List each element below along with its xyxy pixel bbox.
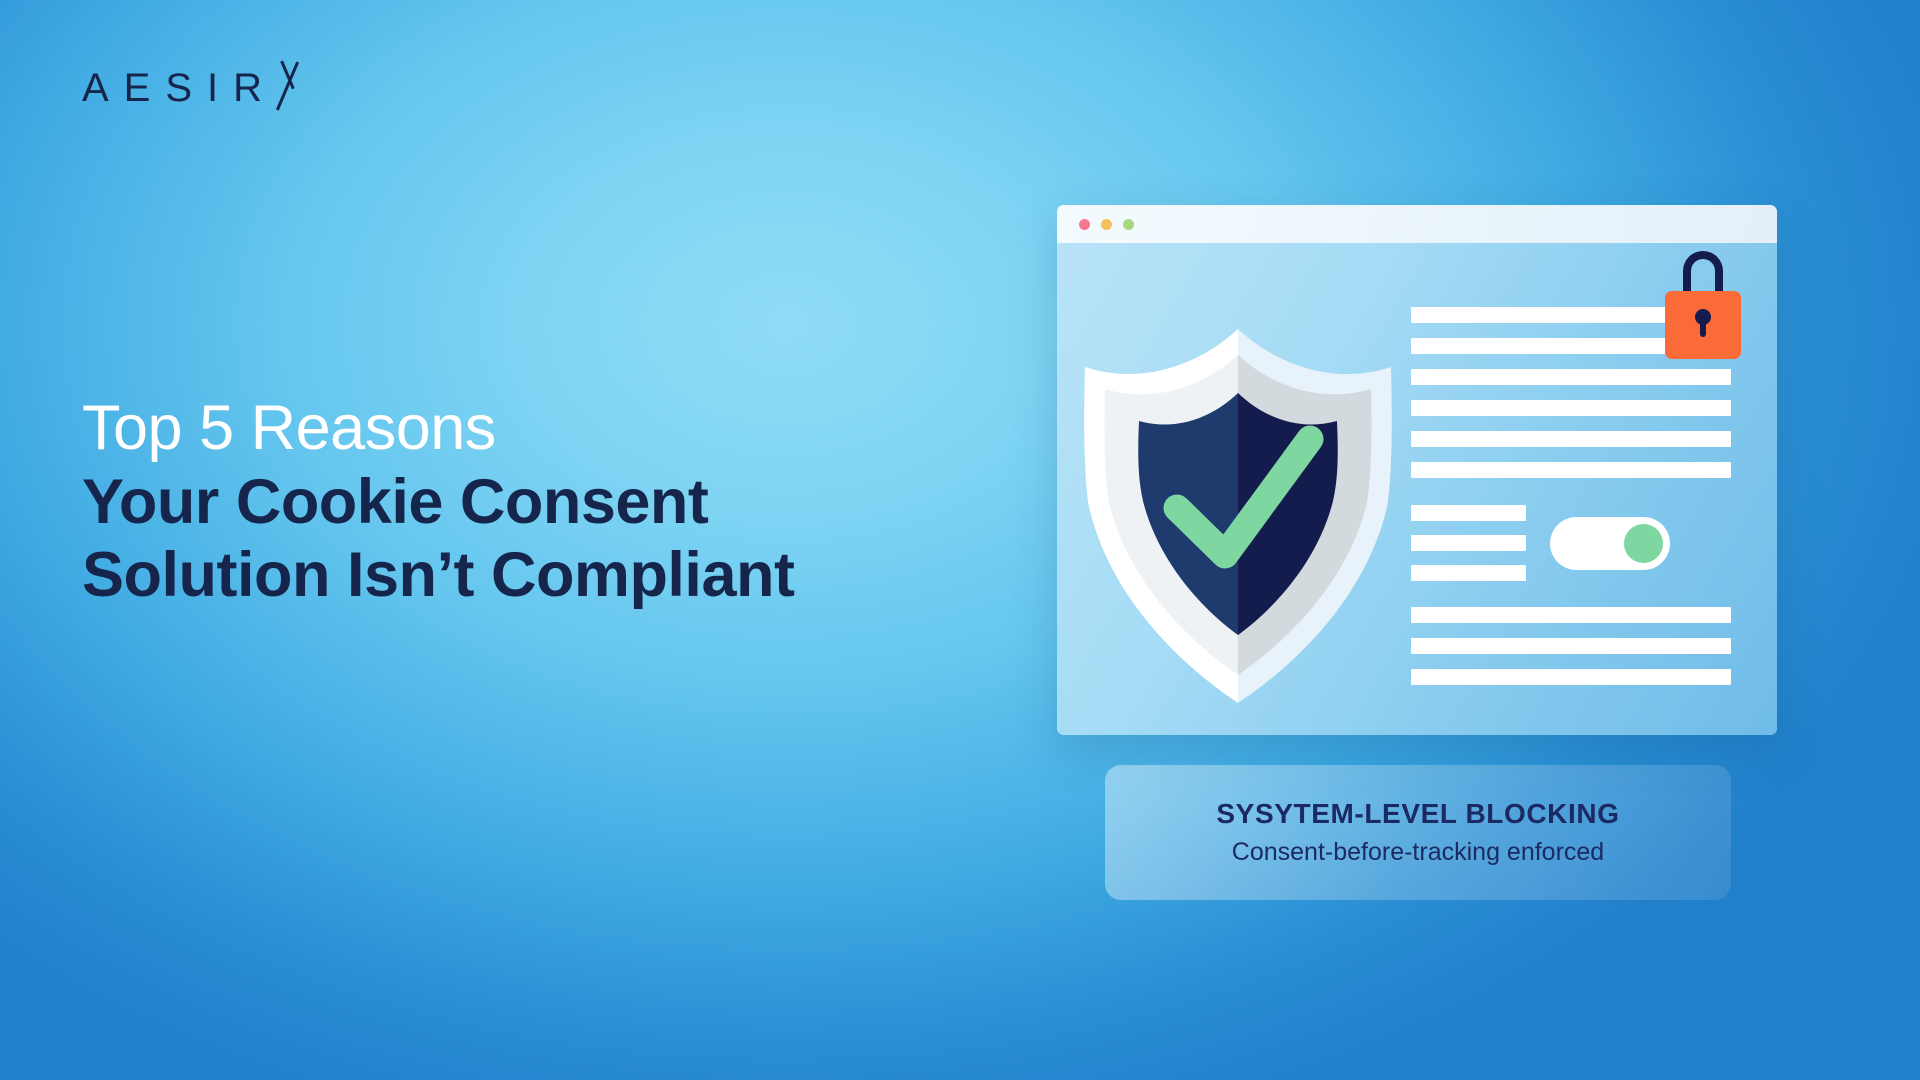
placeholder-bar <box>1411 462 1731 478</box>
poster-canvas: AESIR Top 5 Reasons Your Cookie Consent … <box>0 0 1920 1080</box>
page-title: Top 5 Reasons Your Cookie Consent Soluti… <box>82 392 982 613</box>
window-close-dot-icon <box>1079 219 1090 230</box>
placeholder-bar <box>1411 400 1731 416</box>
brand-name: AESIR <box>82 68 277 108</box>
brand-logo: AESIR <box>82 68 303 112</box>
consent-toggle-row <box>1411 505 1731 581</box>
headline-line-2: Your Cookie Consent <box>82 466 982 540</box>
headline-line-1: Top 5 Reasons <box>82 392 982 466</box>
caption-title: SYSYTEM-LEVEL BLOCKING <box>1216 798 1619 830</box>
placeholder-bar <box>1411 338 1667 354</box>
consent-toggle-switch[interactable] <box>1550 517 1670 570</box>
shield-svg <box>1079 293 1397 713</box>
window-minimize-dot-icon <box>1101 219 1112 230</box>
placeholder-bar <box>1411 431 1731 447</box>
x-mark-icon <box>273 60 303 112</box>
placeholder-bar <box>1411 565 1526 581</box>
caption-card: SYSYTEM-LEVEL BLOCKING Consent-before-tr… <box>1105 765 1731 900</box>
shield-check-icon <box>1079 293 1397 713</box>
bar-group-2 <box>1411 505 1526 581</box>
browser-viewport <box>1057 243 1777 735</box>
placeholder-bar <box>1411 607 1731 623</box>
content-placeholder-lines <box>1411 307 1731 715</box>
padlock-locked-icon <box>1665 251 1741 359</box>
padlock-keyhole <box>1695 309 1711 325</box>
placeholder-bar <box>1411 369 1731 385</box>
caption-subtitle: Consent-before-tracking enforced <box>1232 838 1604 867</box>
bar-group-3 <box>1411 607 1731 685</box>
placeholder-bar <box>1411 669 1731 685</box>
placeholder-bar <box>1411 505 1526 521</box>
window-maximize-dot-icon <box>1123 219 1134 230</box>
headline-line-3: Solution Isn’t Compliant <box>82 539 982 613</box>
placeholder-bar <box>1411 307 1667 323</box>
browser-mockup <box>1057 205 1777 735</box>
browser-title-bar <box>1057 205 1777 243</box>
toggle-knob[interactable] <box>1624 524 1663 563</box>
placeholder-bar <box>1411 638 1731 654</box>
placeholder-bar <box>1411 535 1526 551</box>
